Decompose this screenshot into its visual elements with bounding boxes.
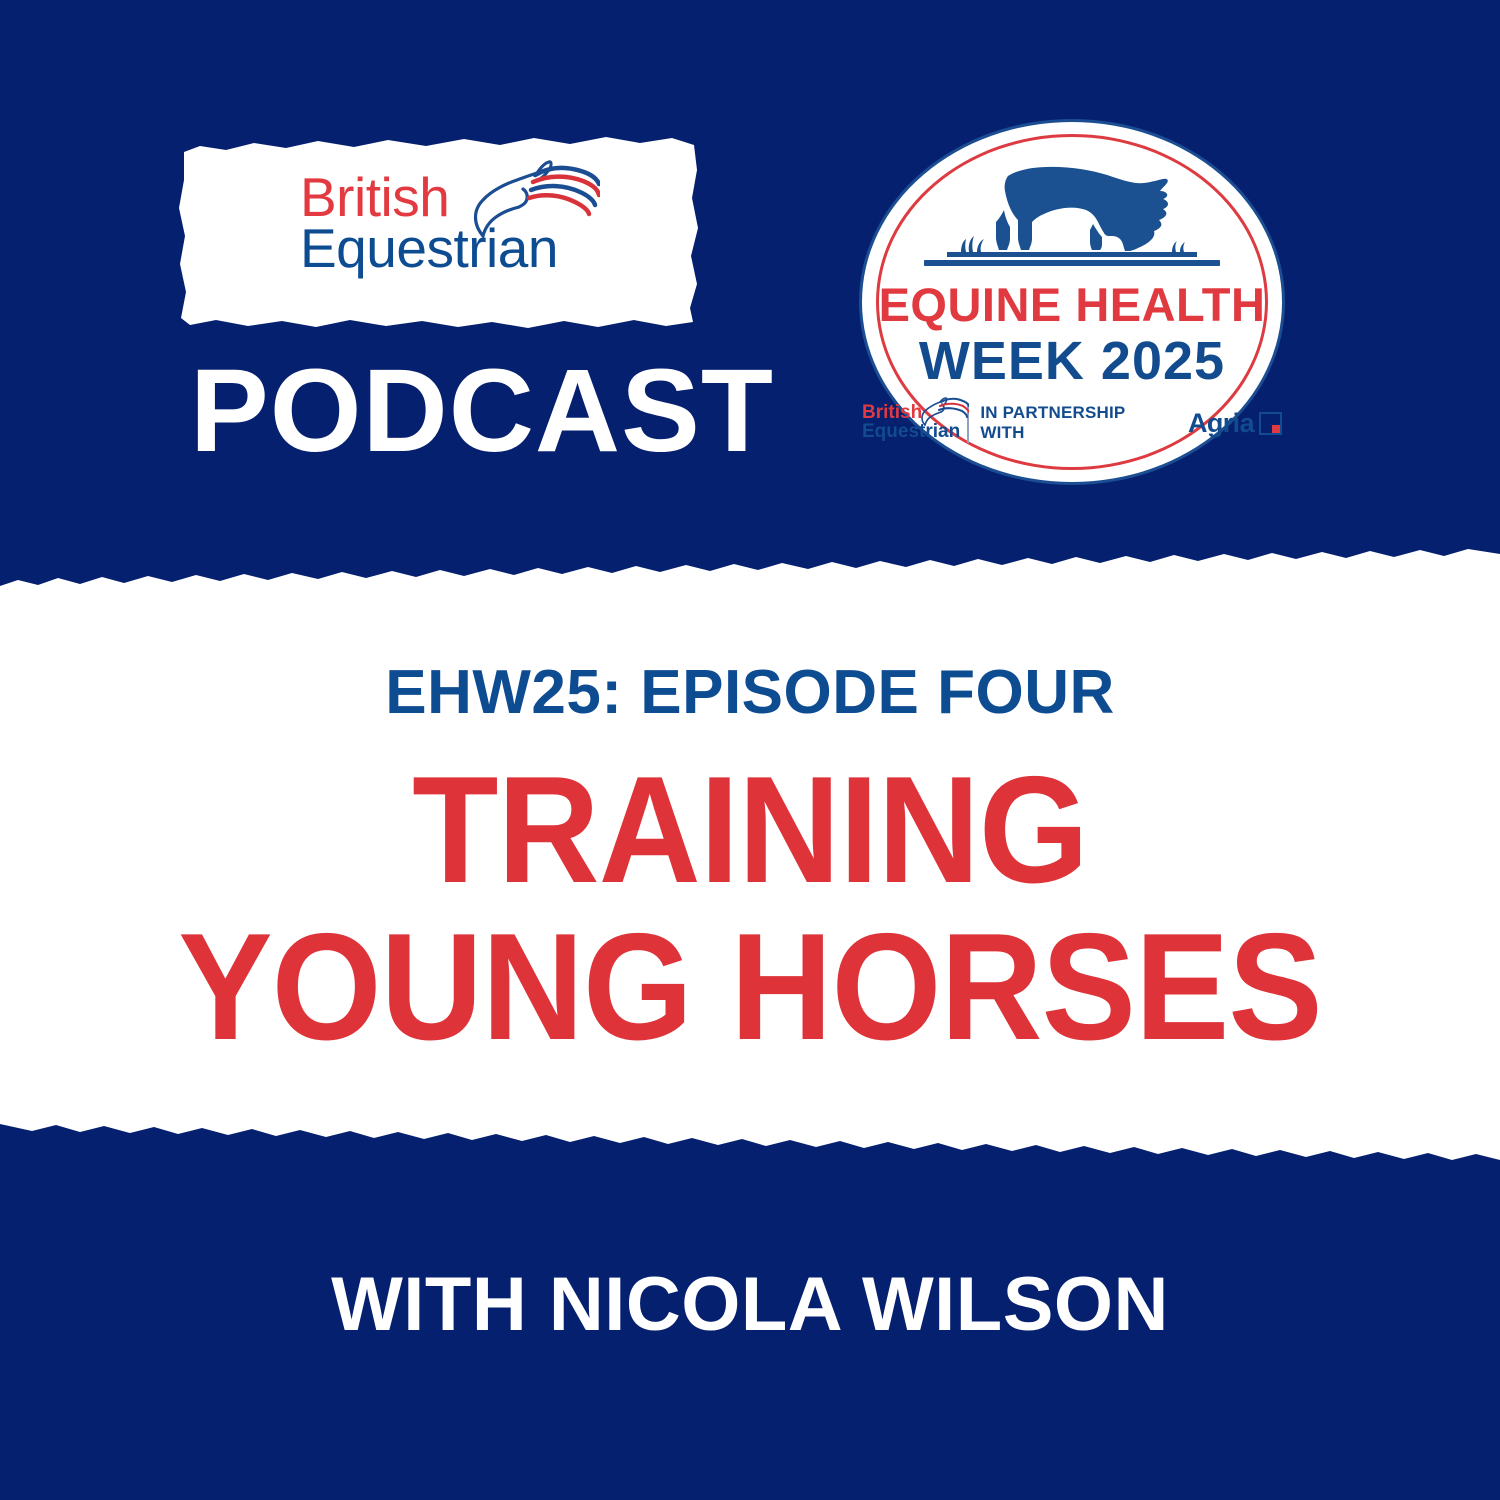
horse-head-icon: [465, 158, 600, 243]
badge-line1: EQUINE HEALTH: [879, 281, 1266, 328]
episode-title-line1: TRAINING: [53, 752, 1448, 909]
episode-label: EHW25: EPISODE FOUR: [0, 662, 1500, 724]
agria-square-icon: [1259, 412, 1282, 435]
bottom-navy-section: WITH NICOLA WILSON: [0, 1155, 1500, 1500]
episode-info-section: EHW25: EPISODE FOUR TRAINING YOUNG HORSE…: [0, 565, 1500, 1155]
badge-be-mini-line1: British: [862, 403, 922, 422]
horse-head-icon-mini: [919, 397, 969, 427]
grazing-horse-icon: [947, 164, 1197, 262]
equine-health-week-badge: EQUINE HEALTH WEEK 2025 British Equestri…: [862, 122, 1282, 482]
badge-be-mini-logo: British Equestrian: [862, 402, 956, 444]
episode-title-line2: YOUNG HORSES: [53, 909, 1448, 1066]
agria-wordmark: Agria: [1188, 410, 1254, 437]
badge-line2: WEEK 2025: [919, 334, 1225, 388]
badge-partnership-row: British Equestrian IN PAR: [862, 402, 1282, 444]
podcast-label: PODCAST: [190, 352, 774, 470]
badge-partnership-text: IN PARTNERSHIP WITH: [980, 403, 1171, 443]
podcast-cover-art: British Equestrian PODCAST: [0, 0, 1500, 1500]
agria-logo: Agria: [1188, 410, 1282, 437]
episode-title: TRAINING YOUNG HORSES: [0, 752, 1500, 1065]
british-equestrian-wordmark: British Equestrian: [300, 172, 590, 292]
host-credit: WITH NICOLA WILSON: [0, 1267, 1500, 1343]
top-navy-section: British Equestrian PODCAST: [0, 0, 1500, 565]
badge-ground-line: [924, 260, 1220, 266]
